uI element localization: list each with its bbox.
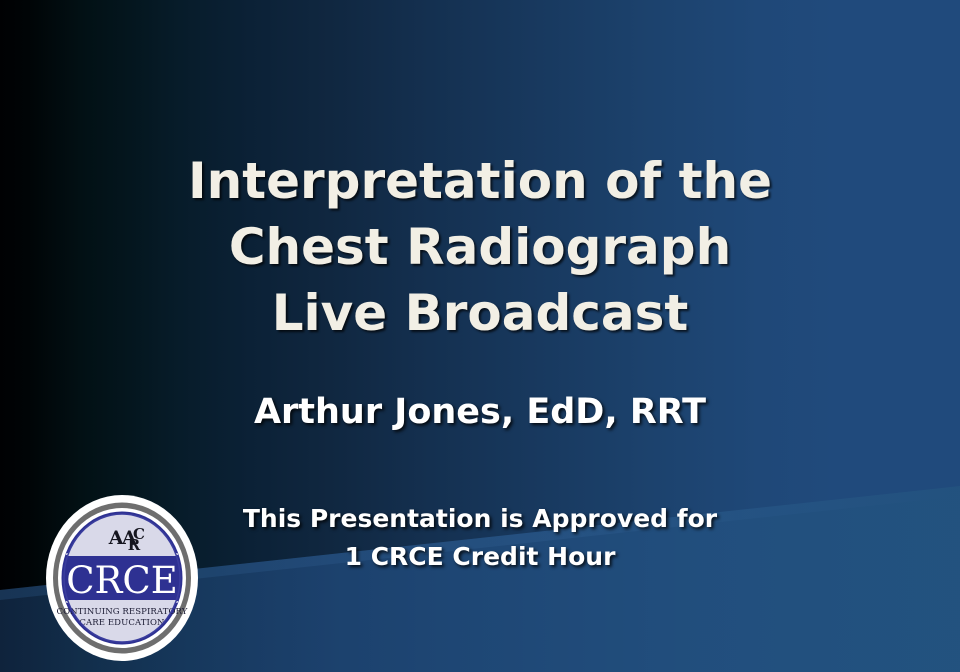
crce-tagline-line1: CONTINUING RESPIRATORY xyxy=(57,607,188,617)
slide-title: Interpretation of the Chest Radiograph L… xyxy=(0,148,960,346)
author-name: Arthur Jones, EdD, RRT xyxy=(0,390,960,434)
slide-author: Arthur Jones, EdD, RRT xyxy=(0,390,960,434)
title-line-2: Chest Radiograph xyxy=(0,214,960,280)
crce-seal-logo: AA C R CRCE CONTINUING RESPIRATORY CARE … xyxy=(44,494,200,662)
title-line-1: Interpretation of the xyxy=(0,148,960,214)
crce-wordmark: CRCE xyxy=(66,559,178,602)
crce-tagline-line2: CARE EDUCATION xyxy=(79,618,165,628)
svg-text:R: R xyxy=(128,536,141,554)
title-line-3: Live Broadcast xyxy=(0,280,960,346)
crce-seal-graphic: AA C R CRCE CONTINUING RESPIRATORY CARE … xyxy=(44,494,200,662)
presentation-slide: Interpretation of the Chest Radiograph L… xyxy=(0,0,960,672)
